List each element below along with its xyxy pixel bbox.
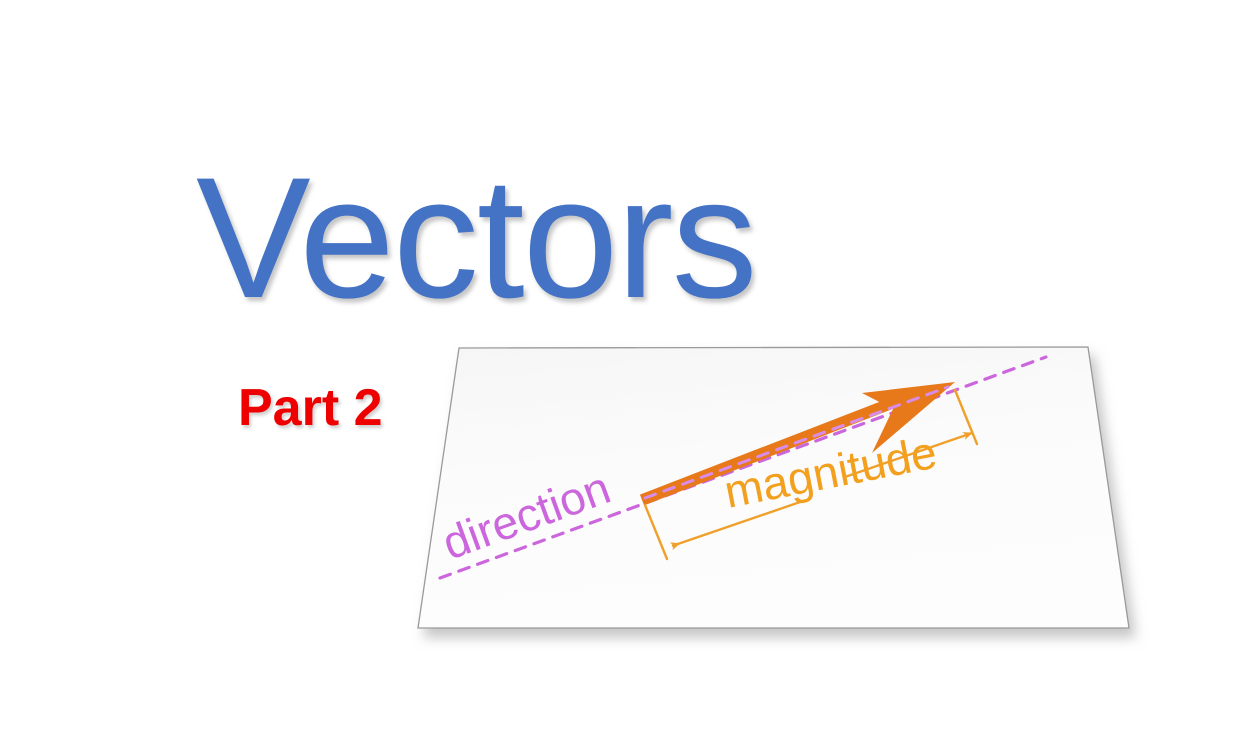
- page-subtitle: Part 2: [238, 382, 383, 434]
- vector-diagram: direction magnitude: [0, 0, 1251, 749]
- slide-canvas: direction magnitude Vectors Part 2: [0, 0, 1251, 749]
- page-title: Vectors: [196, 152, 756, 324]
